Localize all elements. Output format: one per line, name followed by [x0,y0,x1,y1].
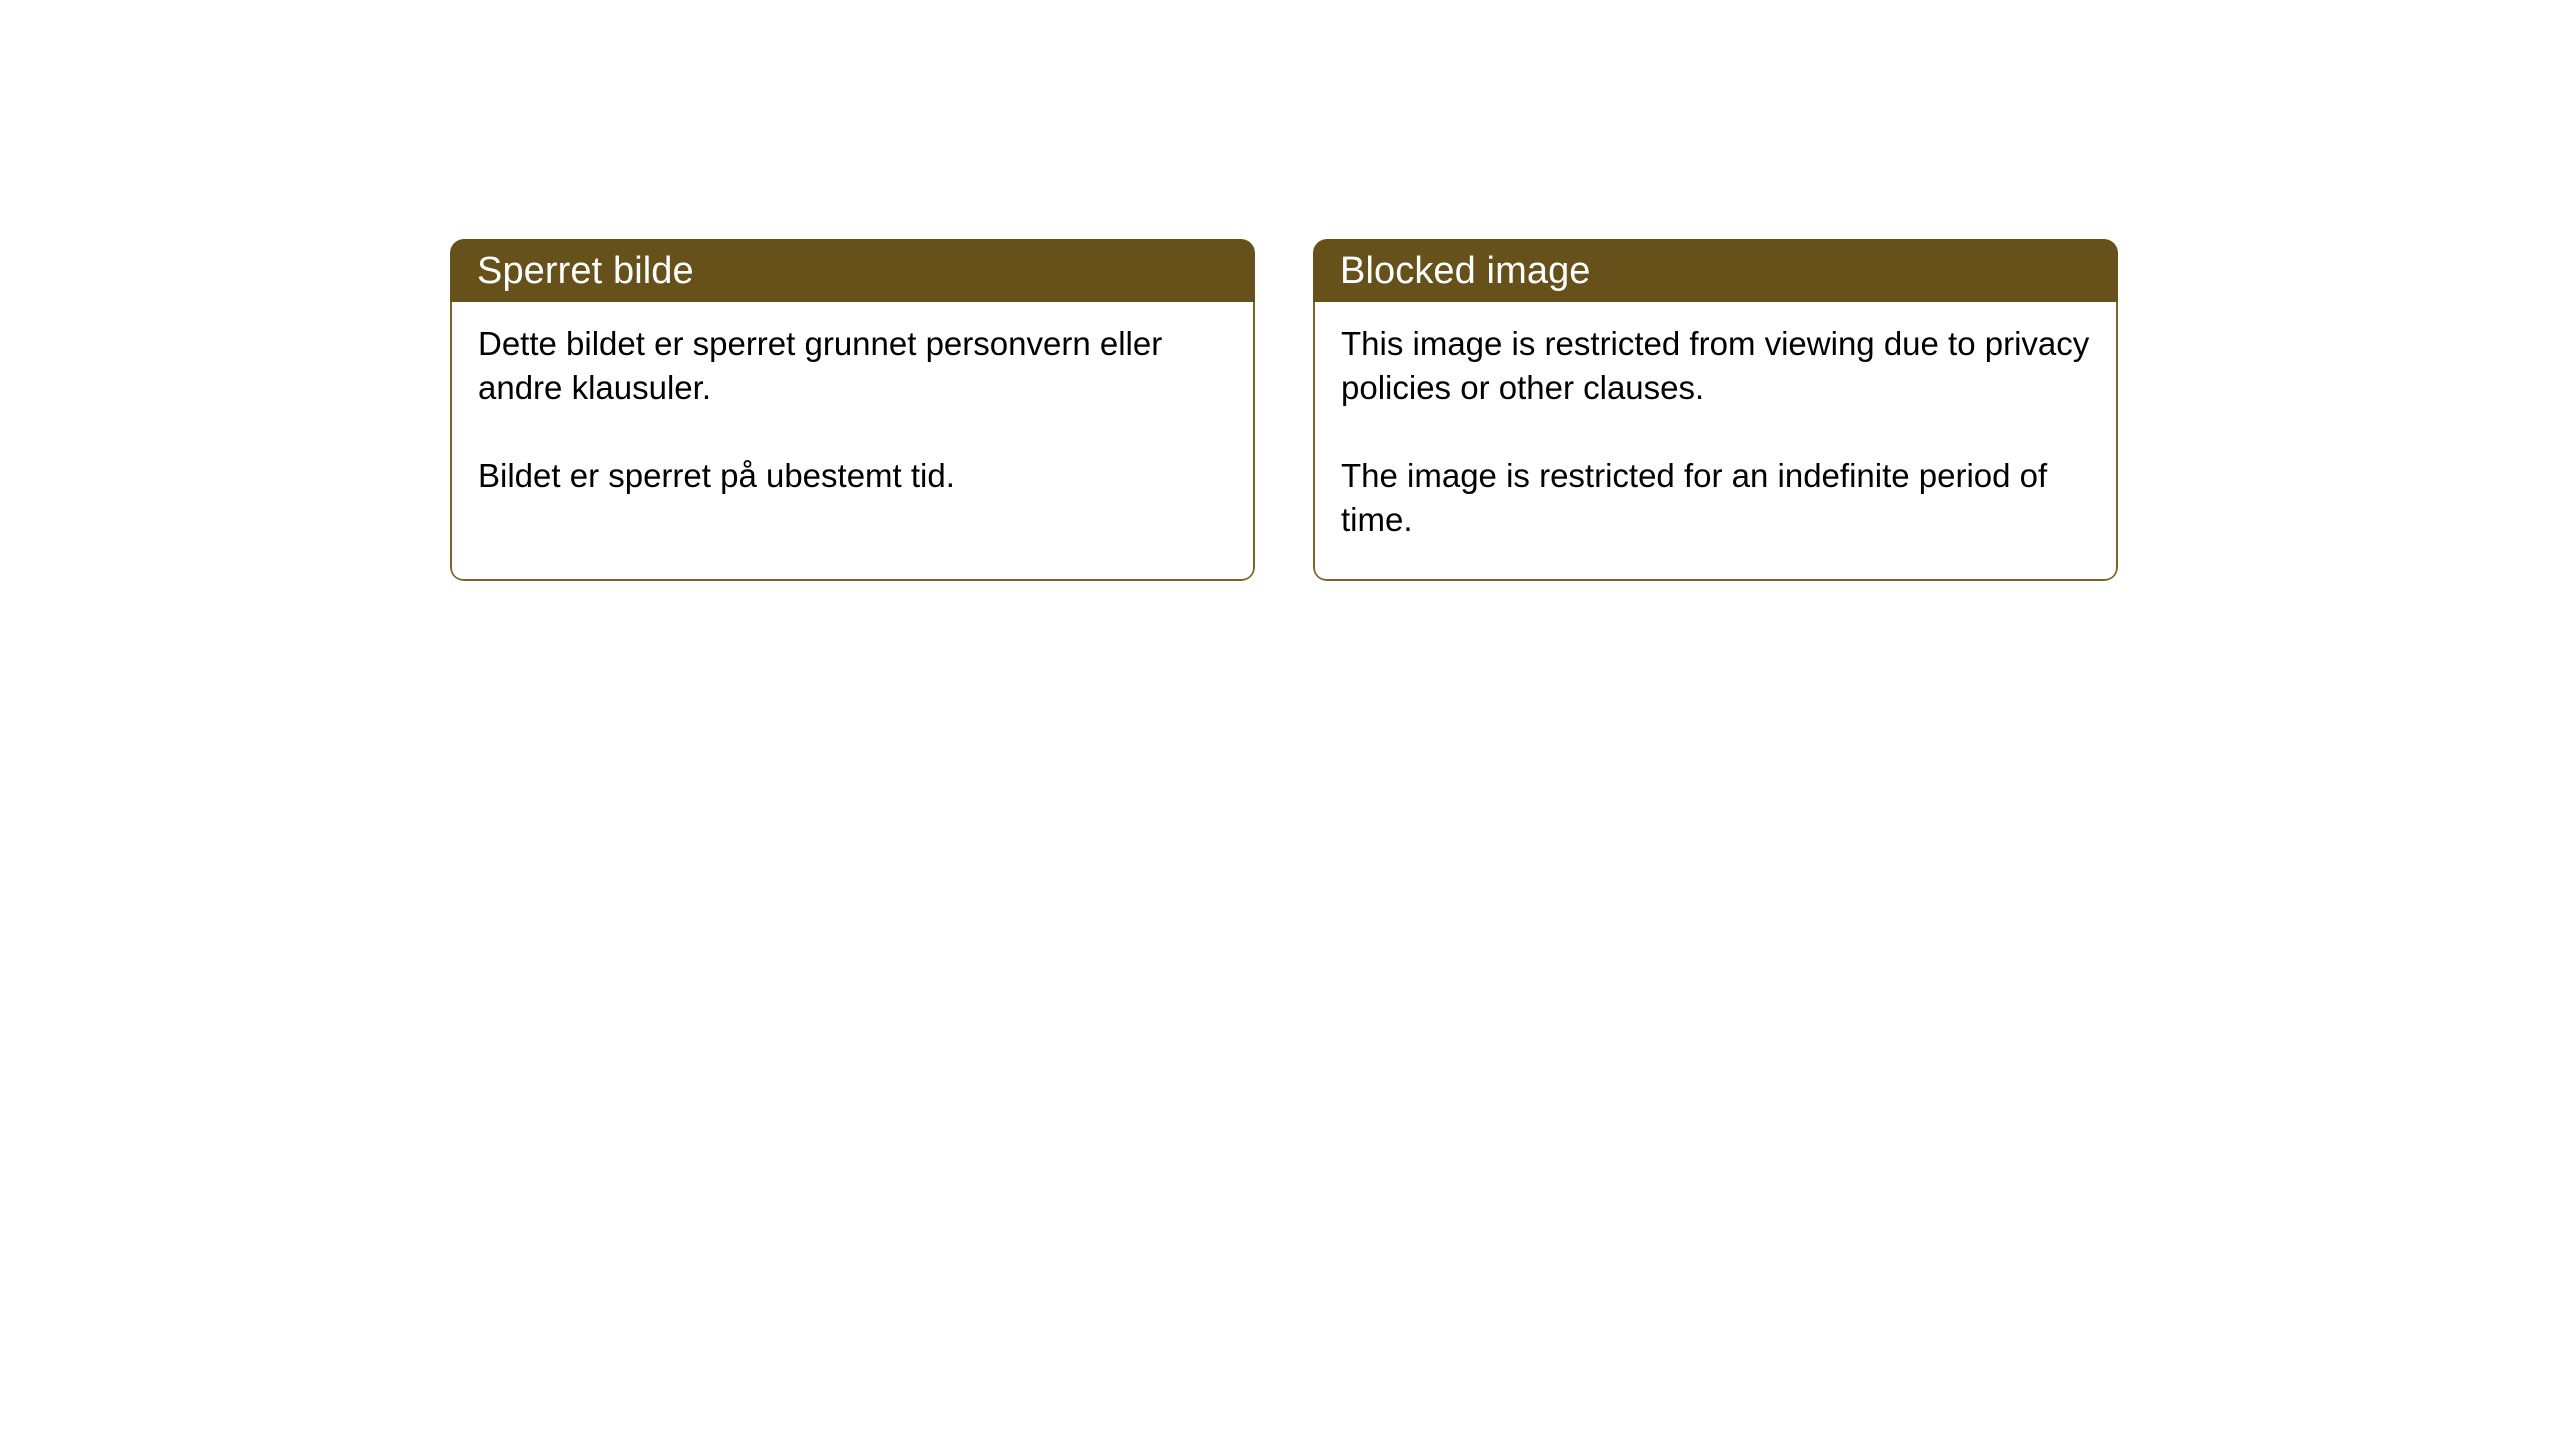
blocked-image-notice-card-no: Sperret bilde Dette bildet er sperret gr… [450,239,1255,581]
card-paragraph-primary-no: Dette bildet er sperret grunnet personve… [478,322,1231,410]
page-canvas: Sperret bilde Dette bildet er sperret gr… [0,0,2560,1440]
card-paragraph-primary-en: This image is restricted from viewing du… [1341,322,2094,410]
card-body-no: Dette bildet er sperret grunnet personve… [450,302,1255,581]
card-title-en: Blocked image [1340,250,1591,292]
card-paragraph-secondary-no: Bildet er sperret på ubestemt tid. [478,454,1231,498]
card-paragraph-secondary-en: The image is restricted for an indefinit… [1341,454,2094,542]
card-header-no: Sperret bilde [450,239,1255,302]
card-header-en: Blocked image [1313,239,2118,302]
card-title-no: Sperret bilde [477,250,694,292]
card-body-en: This image is restricted from viewing du… [1313,302,2118,581]
blocked-image-notice-card-en: Blocked image This image is restricted f… [1313,239,2118,581]
